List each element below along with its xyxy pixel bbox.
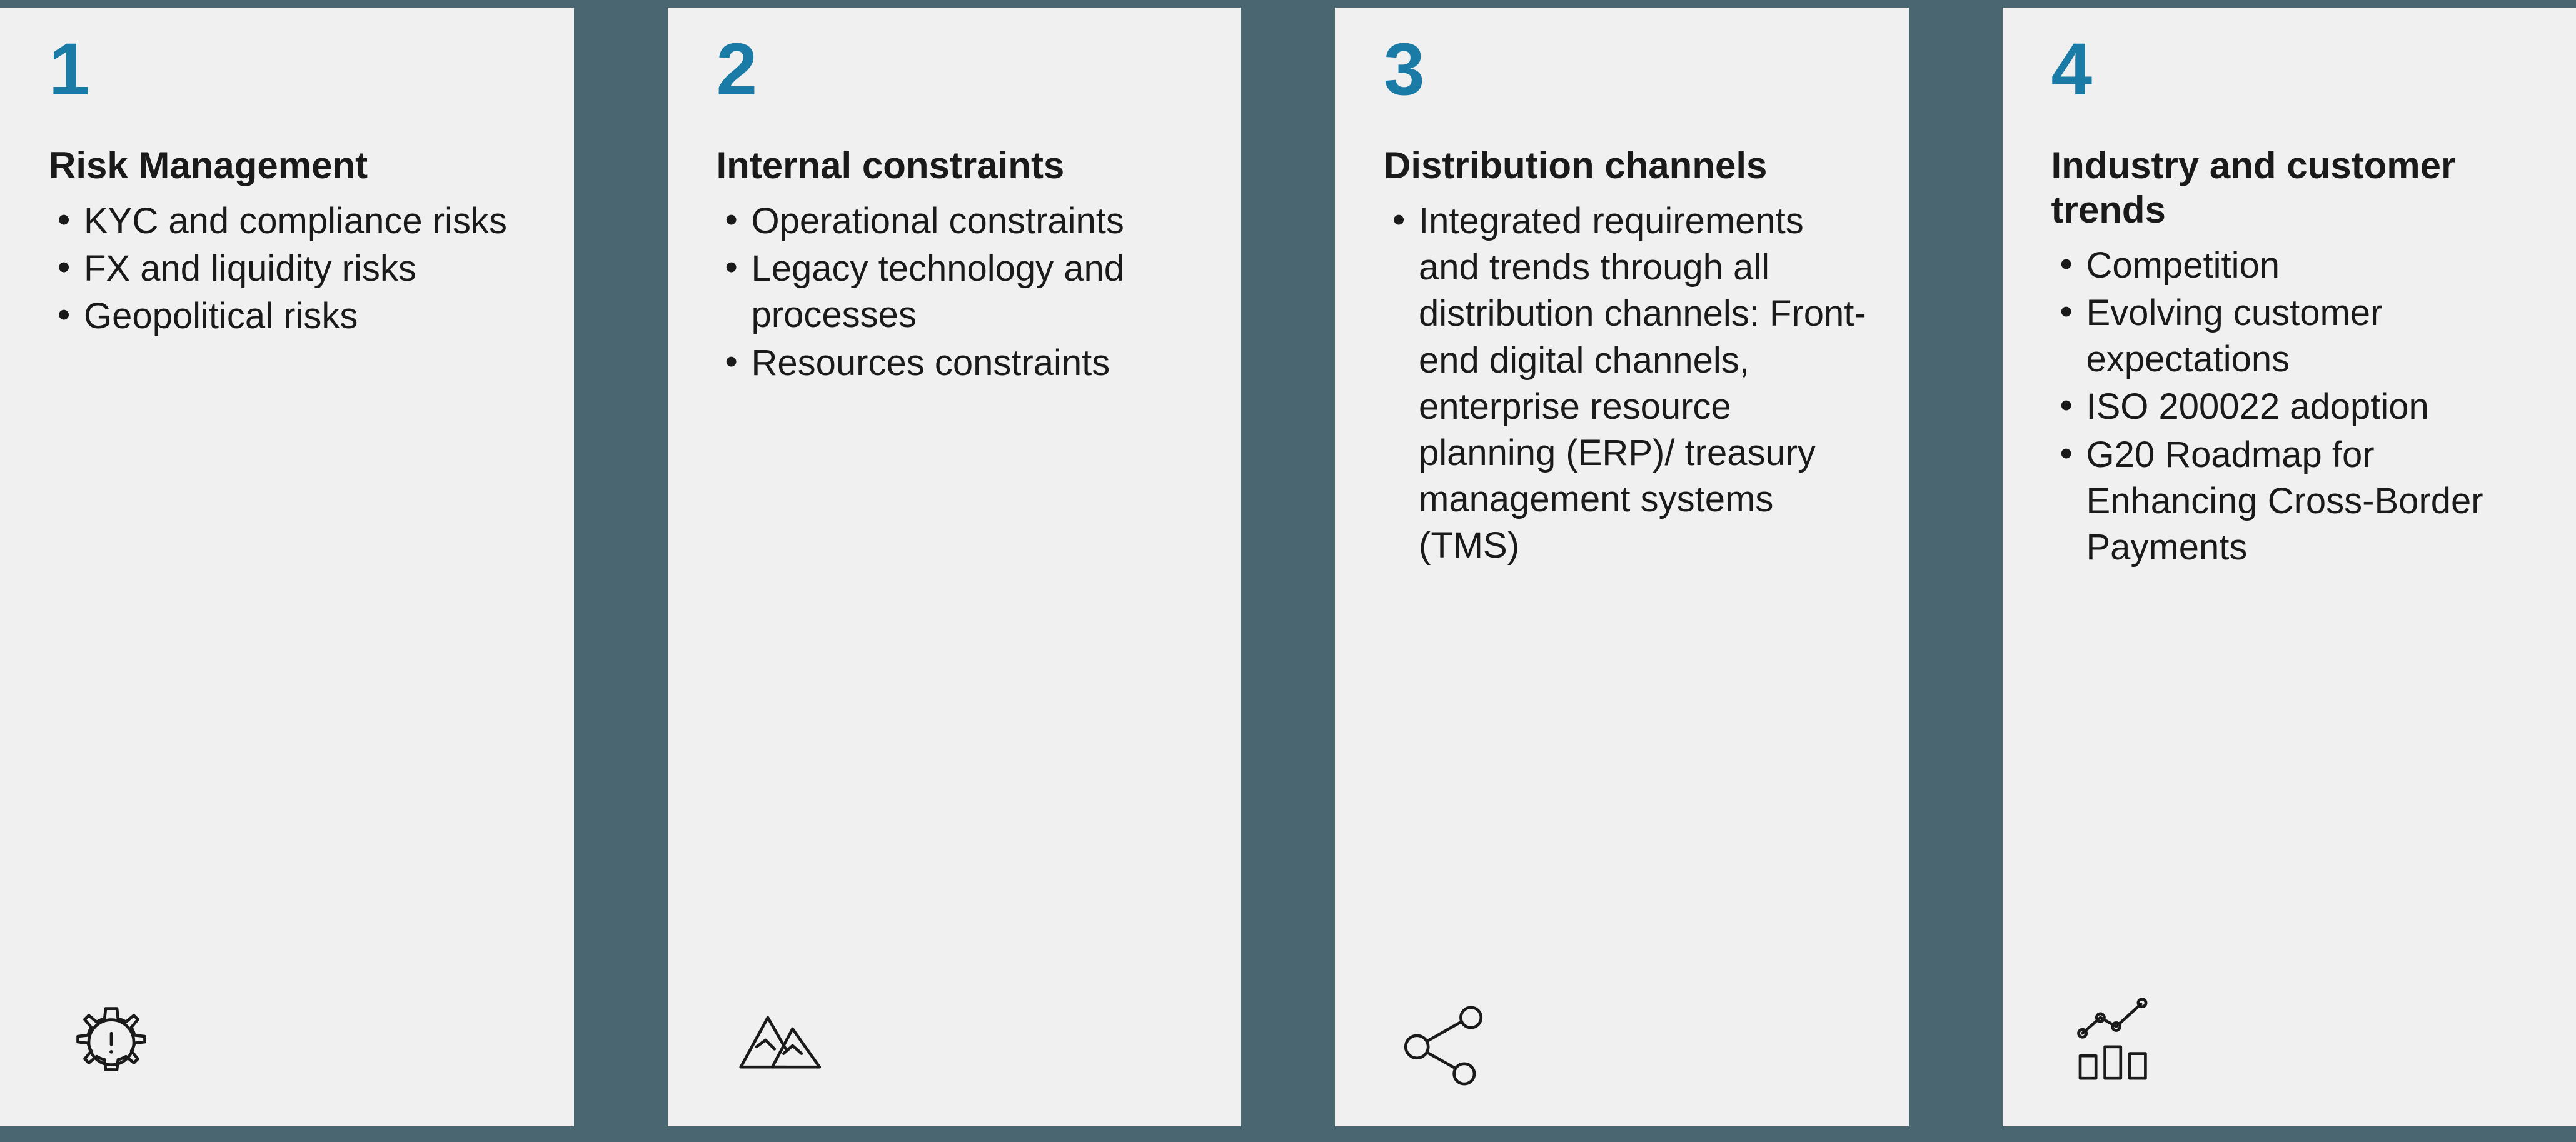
card-title: Industry and customer trends [2051, 144, 2539, 233]
card-number: 3 [1384, 33, 1871, 106]
list-item: Geopolitical risks [49, 293, 536, 339]
card-1: 1 Risk Management KYC and compliance ris… [0, 8, 574, 1126]
card-4: 4 Industry and customer trends Competiti… [2003, 8, 2576, 1126]
list-item: Competition [2051, 243, 2539, 289]
share-network-icon [1384, 984, 1509, 1096]
card-bullet-list: Operational constraints Legacy technolog… [717, 198, 1204, 388]
cards-board: 1 Risk Management KYC and compliance ris… [0, 0, 2576, 1142]
card-bullet-list: Integrated requirements and trends throu… [1384, 198, 1871, 571]
gear-alert-icon [49, 984, 174, 1096]
card-number: 1 [49, 33, 536, 106]
card-title: Distribution channels [1384, 144, 1871, 188]
list-item: Resources constraints [717, 340, 1204, 386]
list-item: Evolving customer expectations [2051, 290, 2539, 383]
card-number: 2 [717, 33, 1204, 106]
list-item: Integrated requirements and trends throu… [1384, 198, 1871, 569]
card-3: 3 Distribution channels Integrated requi… [1335, 8, 1909, 1126]
list-item: Operational constraints [717, 198, 1204, 244]
card-bullet-list: Competition Evolving customer expectatio… [2051, 243, 2539, 573]
card-bullet-list: KYC and compliance risks FX and liquidit… [49, 198, 536, 341]
card-title: Internal constraints [717, 144, 1204, 188]
mountains-icon [717, 984, 842, 1096]
list-item: Legacy technology and processes [717, 246, 1204, 338]
list-item: ISO 200022 adoption [2051, 384, 2539, 430]
card-number: 4 [2051, 33, 2539, 106]
list-item: G20 Roadmap for Enhancing Cross-Border P… [2051, 432, 2539, 571]
list-item: KYC and compliance risks [49, 198, 536, 244]
card-2: 2 Internal constraints Operational const… [668, 8, 1242, 1126]
card-title: Risk Management [49, 144, 536, 188]
list-item: FX and liquidity risks [49, 246, 536, 292]
bar-chart-trend-icon [2051, 984, 2176, 1096]
